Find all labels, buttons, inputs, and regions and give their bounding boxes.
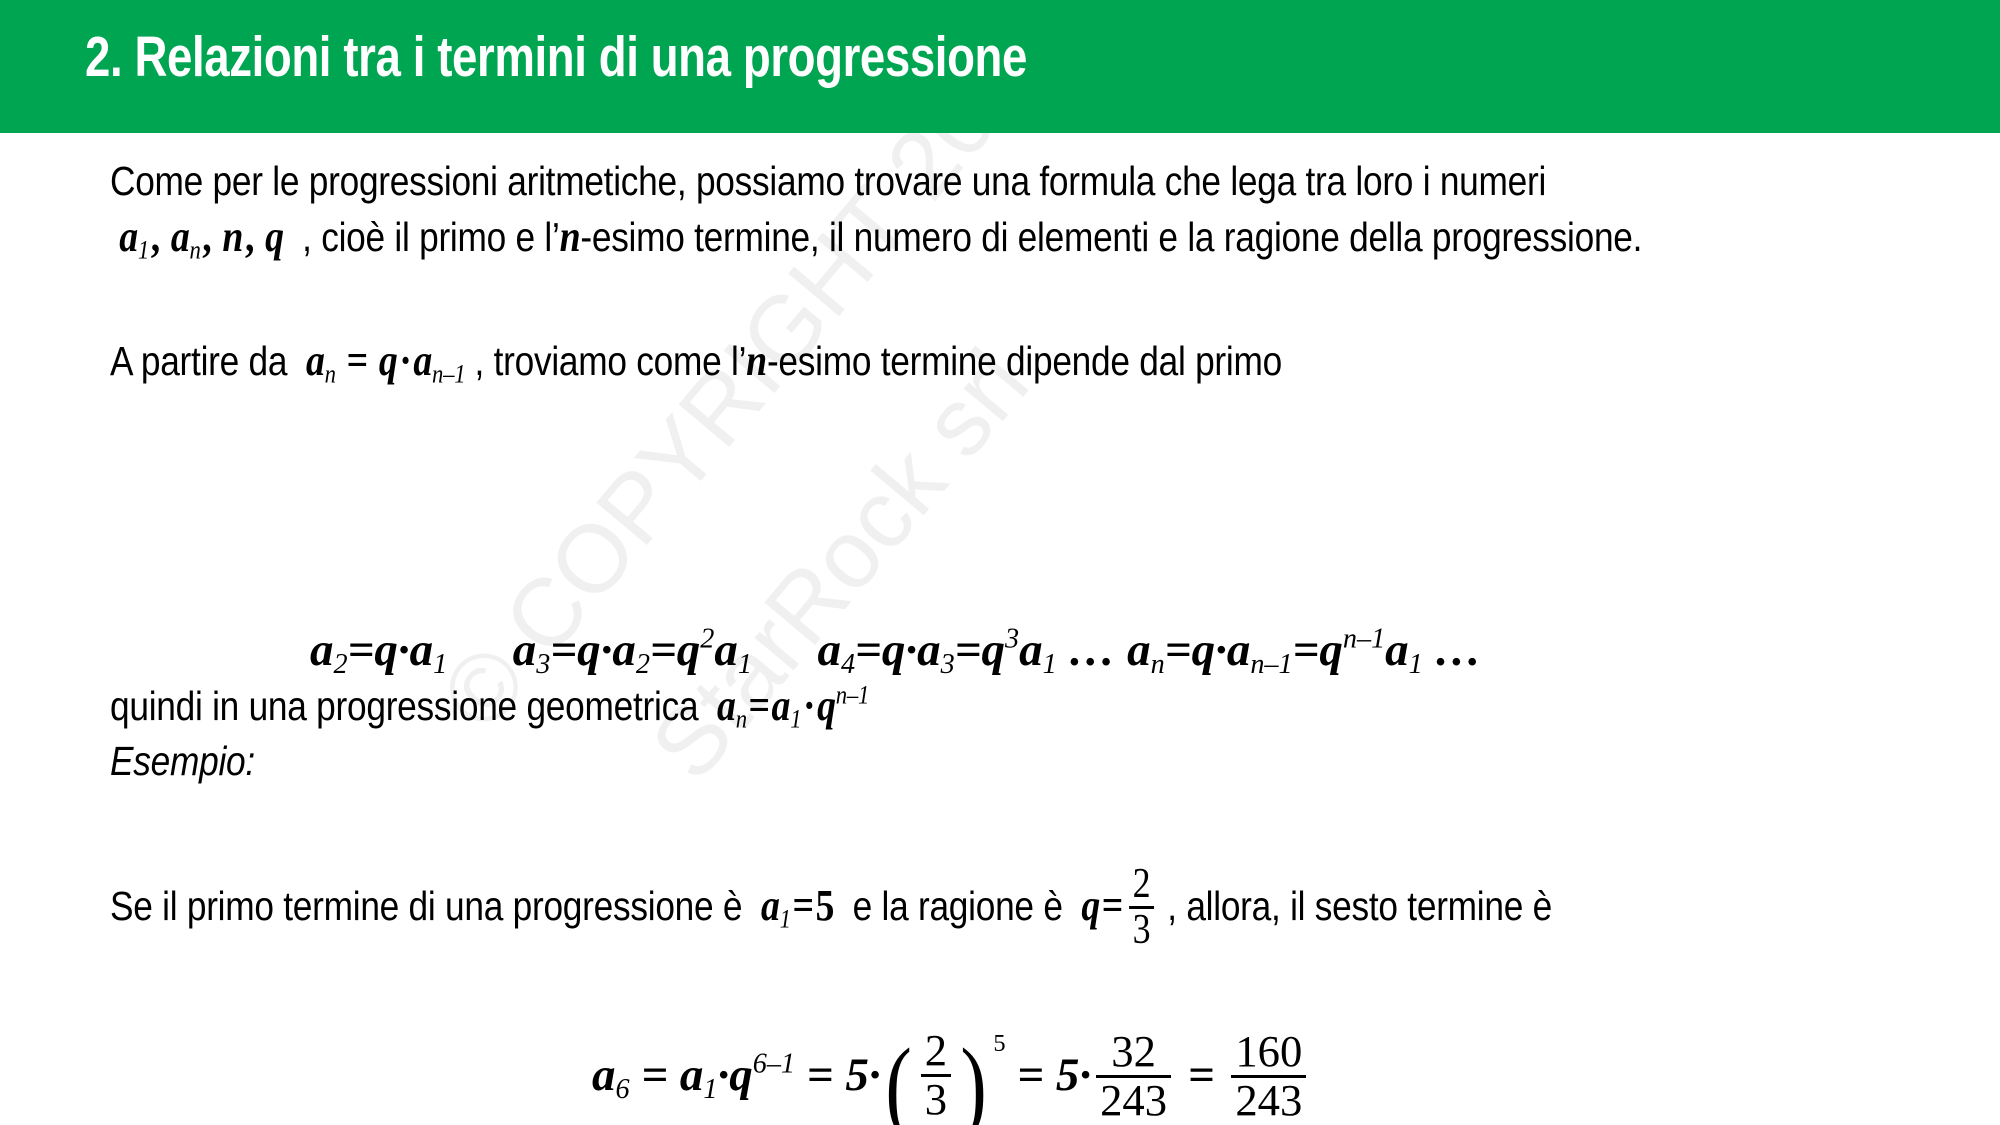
intro-variable-list: a1, an, n, q [110,212,302,261]
equation-a4: a4=q·a3=q3a1 [817,624,1056,676]
recurrence-n-symbol: n [746,336,767,385]
slide-title: 2. Relazioni tra i termini di una progre… [85,24,1027,90]
example-q-value: q=23 [1072,881,1167,930]
equation-a2: a2=q·a1 [310,624,447,676]
parenthesized-fraction: (23)5 [881,1028,1006,1125]
paren-close: ) [961,1041,987,1125]
example-text-part-1: Se il primo termine di una progressione … [110,883,742,929]
fraction-160-243: 160243 [1231,1029,1306,1123]
equation-an: an=q·an–1=qn–1a1 [1127,624,1423,676]
recurrence-text-part-2: , troviamo come l’ [475,338,747,384]
equation-derivation-row: a2=q·a1 a3=q·a2=q2a1 a4=q·a3=q3a1 … an=q… [310,623,1482,677]
intro-text-part-3: -esimo termine, il numero di elementi e … [580,214,1642,260]
example-a1-value: a1=5 [752,881,853,930]
paren-open: ( [885,1041,911,1125]
fraction-two-thirds: 23 [1129,863,1154,951]
fraction-two-thirds-power: 23 [921,1028,951,1122]
general-term-formula: an=a1·qn–1 [708,681,869,730]
exponent-five: 5 [993,1030,1005,1057]
example-text-part-3: , allora, il sesto termine è [1167,883,1552,929]
recurrence-text-part-3: -esimo termine dipende dal primo [767,338,1282,384]
esempio-label: Esempio: [110,733,1940,789]
slide-title-bar: 2. Relazioni tra i termini di una progre… [0,0,2000,133]
ellipsis-2: … [1435,624,1482,676]
fraction-32-243: 32243 [1096,1029,1171,1123]
intro-n-symbol: n [560,212,581,261]
ellipsis-1: … [1068,624,1115,676]
slide: © COPYRIGHT 2015 StarRock srl 2. Relazio… [0,0,2000,1125]
intro-text-part-1: Come per le progressioni aritmetiche, po… [110,158,1546,204]
recurrence-formula: an = q·an–1 [297,336,475,385]
paragraph-recurrence: A partire da an = q·an–1 , troviamo come… [110,333,1940,389]
paragraph-example: Se il primo termine di una progressione … [110,863,1940,951]
paragraph-intro: Come per le progressioni aritmetiche, po… [110,153,1940,265]
intro-text-part-2: , cioè il primo e l’ [302,214,559,260]
equation-example-result: a6 = a1·q6–1 = 5·(23)5 = 5·32243 = 16024… [592,1028,1311,1125]
slide-content: Come per le progressioni aritmetiche, po… [0,133,2000,1125]
esempio-label-text: Esempio: [110,733,255,789]
general-term-text: quindi in una progressione geometrica [110,683,698,729]
recurrence-text-part-1: A partire da [110,338,287,384]
paragraph-general-term: quindi in una progressione geometrica an… [110,678,1940,734]
equation-a3: a3=q·a2=q2a1 [513,624,752,676]
example-text-part-2: e la ragione è [853,883,1063,929]
